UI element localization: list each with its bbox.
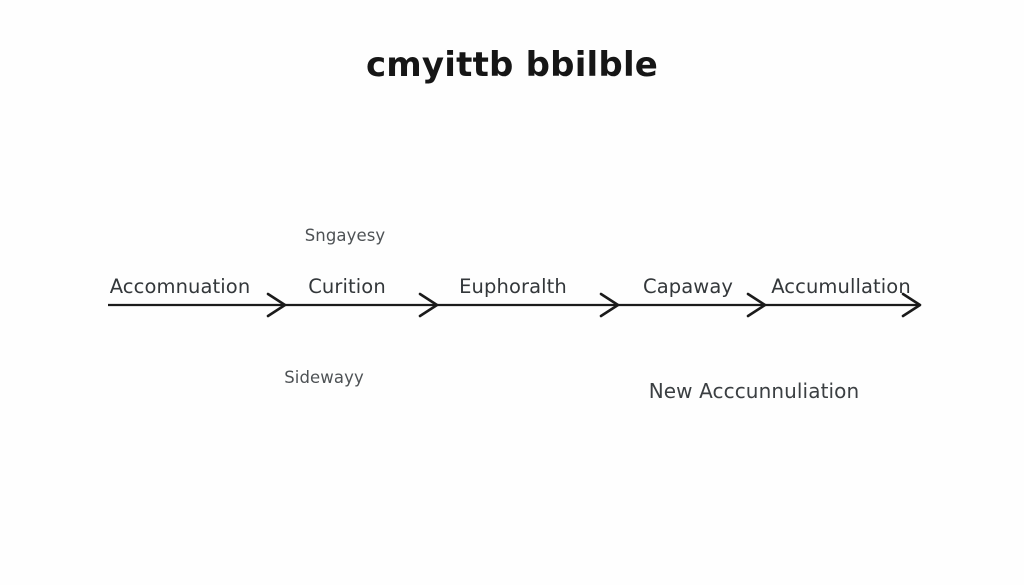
stage-label-1: Accomnuation [110, 275, 251, 298]
stage-label-4: Capaway [643, 275, 733, 298]
arrowhead-2 [420, 294, 437, 316]
figure-canvas: cmyittb bbilble Accomnuation Curition Eu… [0, 0, 1024, 585]
stage-label-5: Accumullation [771, 275, 911, 298]
stage-label-3: Euphoralth [459, 275, 567, 298]
stage-label-2: Curition [308, 275, 386, 298]
page-title: cmyittb bbilble [0, 45, 1024, 85]
arrowhead-4 [748, 294, 765, 316]
arrowhead-1 [268, 294, 285, 316]
annotation-below-sidewayy: Sidewayy [284, 368, 364, 387]
annotation-above-sngayesy: Sngayesy [305, 226, 386, 245]
arrowhead-3 [601, 294, 618, 316]
annotation-below-new-accumulation: New Acccunnuliation [649, 379, 860, 403]
